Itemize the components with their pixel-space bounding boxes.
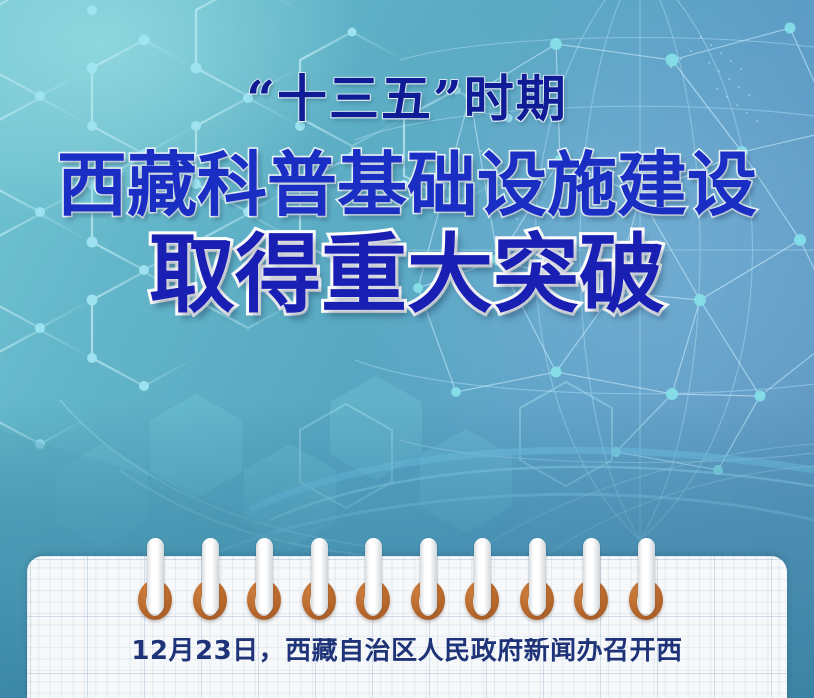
poster-title-line-2: 取得重大突破 (0, 232, 814, 318)
infographic-poster: “十三五”时期 西藏科普基础设施建设 取得重大突破 12月23日，西藏自治区人民… (0, 0, 814, 698)
graph-paper-grid (27, 556, 787, 698)
poster-subtitle: “十三五”时期 (0, 74, 814, 124)
notebook-caption: 12月23日，西藏自治区人民政府新闻办召开西 (27, 638, 787, 664)
poster-title-line-1: 西藏科普基础设施建设 (0, 150, 814, 220)
notebook-paper: 12月23日，西藏自治区人民政府新闻办召开西 (27, 556, 787, 698)
headline-block: “十三五”时期 西藏科普基础设施建设 取得重大突破 (0, 0, 814, 318)
